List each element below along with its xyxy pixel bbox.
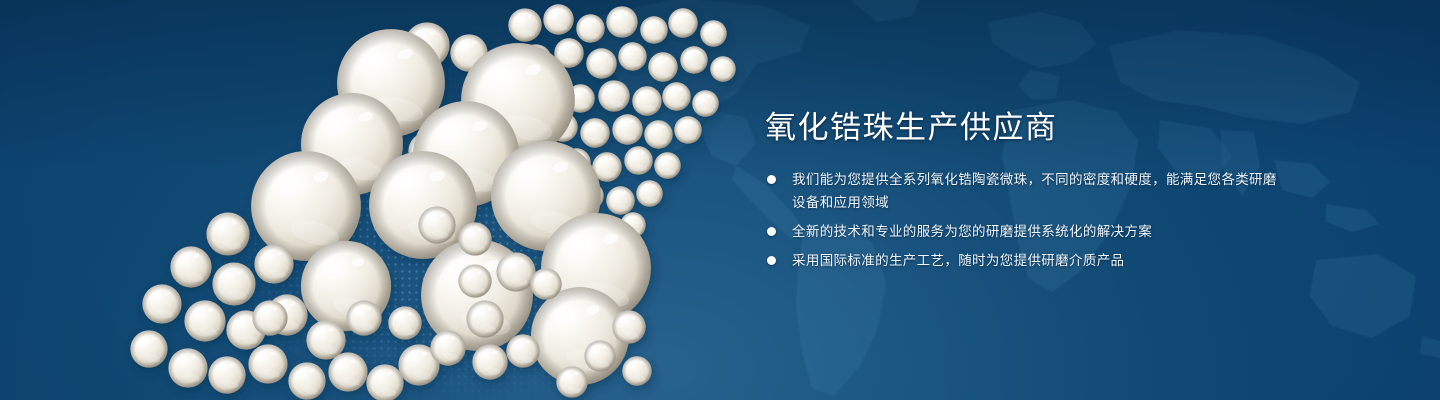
bullet-text: 我们能为您提供全系列氧化锆陶瓷微珠，不同的密度和硬度，能满足您各类研磨设备和应用…: [792, 172, 1277, 210]
bullet-dot-icon: [767, 256, 776, 265]
bullet-text: 采用国际标准的生产工艺，随时为您提供研磨介质产品: [792, 253, 1124, 268]
list-item: 我们能为您提供全系列氧化锆陶瓷微珠，不同的密度和硬度，能满足您各类研磨设备和应用…: [765, 168, 1285, 214]
banner-headline: 氧化锆珠生产供应商: [765, 108, 1285, 148]
bullet-dot-icon: [767, 227, 776, 236]
bullet-text: 全新的技术和专业的服务为您的研磨提供系统化的解决方案: [792, 224, 1152, 239]
list-item: 采用国际标准的生产工艺，随时为您提供研磨介质产品: [765, 249, 1285, 272]
banner-copy: 氧化锆珠生产供应商 我们能为您提供全系列氧化锆陶瓷微珠，不同的密度和硬度，能满足…: [765, 108, 1285, 272]
hero-banner: 氧化锆珠生产供应商 我们能为您提供全系列氧化锆陶瓷微珠，不同的密度和硬度，能满足…: [0, 0, 1440, 400]
zirconia-beads-photo: [0, 0, 760, 400]
banner-feature-list: 我们能为您提供全系列氧化锆陶瓷微珠，不同的密度和硬度，能满足您各类研磨设备和应用…: [765, 168, 1285, 272]
list-item: 全新的技术和专业的服务为您的研磨提供系统化的解决方案: [765, 220, 1285, 243]
bullet-dot-icon: [767, 175, 776, 184]
